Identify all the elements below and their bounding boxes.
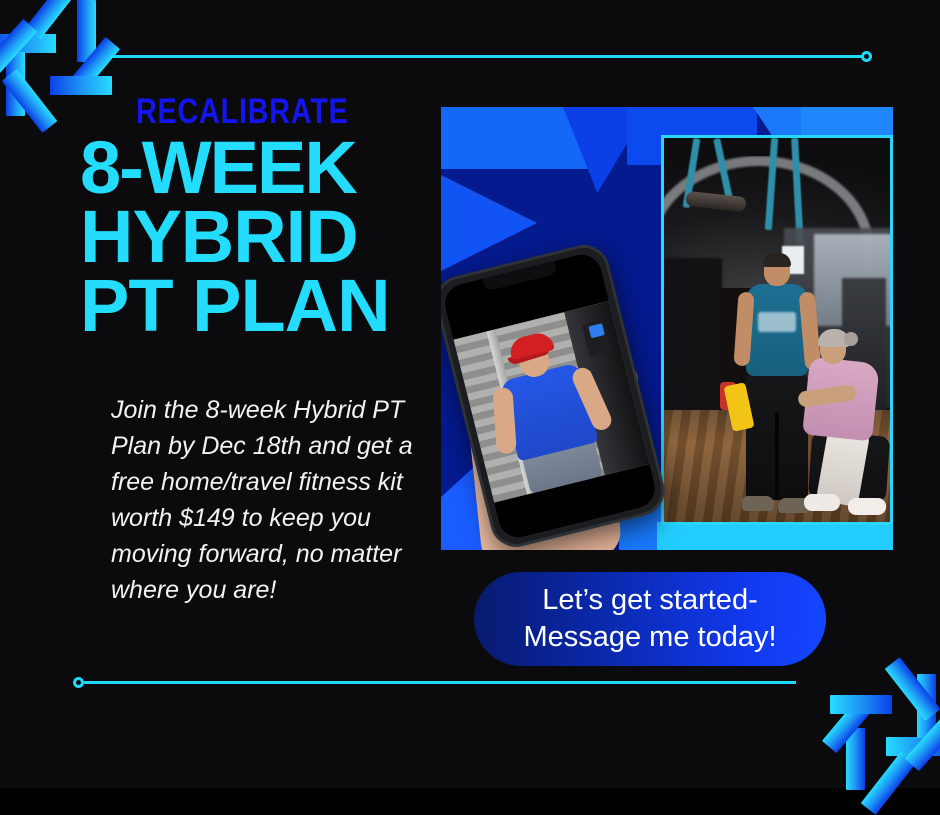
trainer-shirt-logo [758, 312, 796, 332]
media-collage [441, 107, 893, 550]
cta-line-2: Message me today! [523, 619, 776, 656]
page-title: 8-WEEK HYBRID PT PLAN [80, 134, 430, 340]
ornament-bar [830, 695, 892, 714]
eyebrow-text: RECALIBRATE [136, 94, 349, 129]
gym-photo [661, 135, 893, 525]
divider-line-top [110, 55, 862, 58]
trainer-shoe [742, 496, 774, 511]
body-paragraph: Join the 8-week Hybrid PT Plan by Dec 18… [111, 392, 433, 608]
poster-canvas: RECALIBRATE 8-WEEK HYBRID PT PLAN Join t… [0, 0, 940, 788]
corner-ornament-top-left [0, 0, 128, 126]
phone-screen [441, 251, 659, 542]
gym-photo-content [664, 138, 890, 522]
client-hair-bun [844, 332, 858, 346]
video-frame [454, 301, 650, 503]
cta-line-1: Let’s get started- [542, 582, 757, 619]
client-shoe [804, 494, 840, 511]
smartphone [441, 240, 670, 550]
headline-line-1: 8-WEEK [80, 134, 430, 203]
hand-holding-phone [441, 235, 673, 550]
client-shoe [848, 498, 886, 515]
corner-ornament-bottom-right [814, 664, 940, 794]
divider-endpoint-dot-bottom [73, 677, 84, 688]
client-figure [792, 334, 893, 524]
trainer-hair [763, 253, 791, 267]
cta-button[interactable]: Let’s get started- Message me today! [474, 572, 826, 666]
divider-line-bottom [84, 681, 796, 684]
accent-band [657, 522, 893, 550]
headline-line-2: HYBRID [80, 203, 430, 272]
headline-line-3: PT PLAN [80, 272, 430, 341]
ornament-bar [50, 76, 112, 95]
divider-endpoint-dot-top [861, 51, 872, 62]
